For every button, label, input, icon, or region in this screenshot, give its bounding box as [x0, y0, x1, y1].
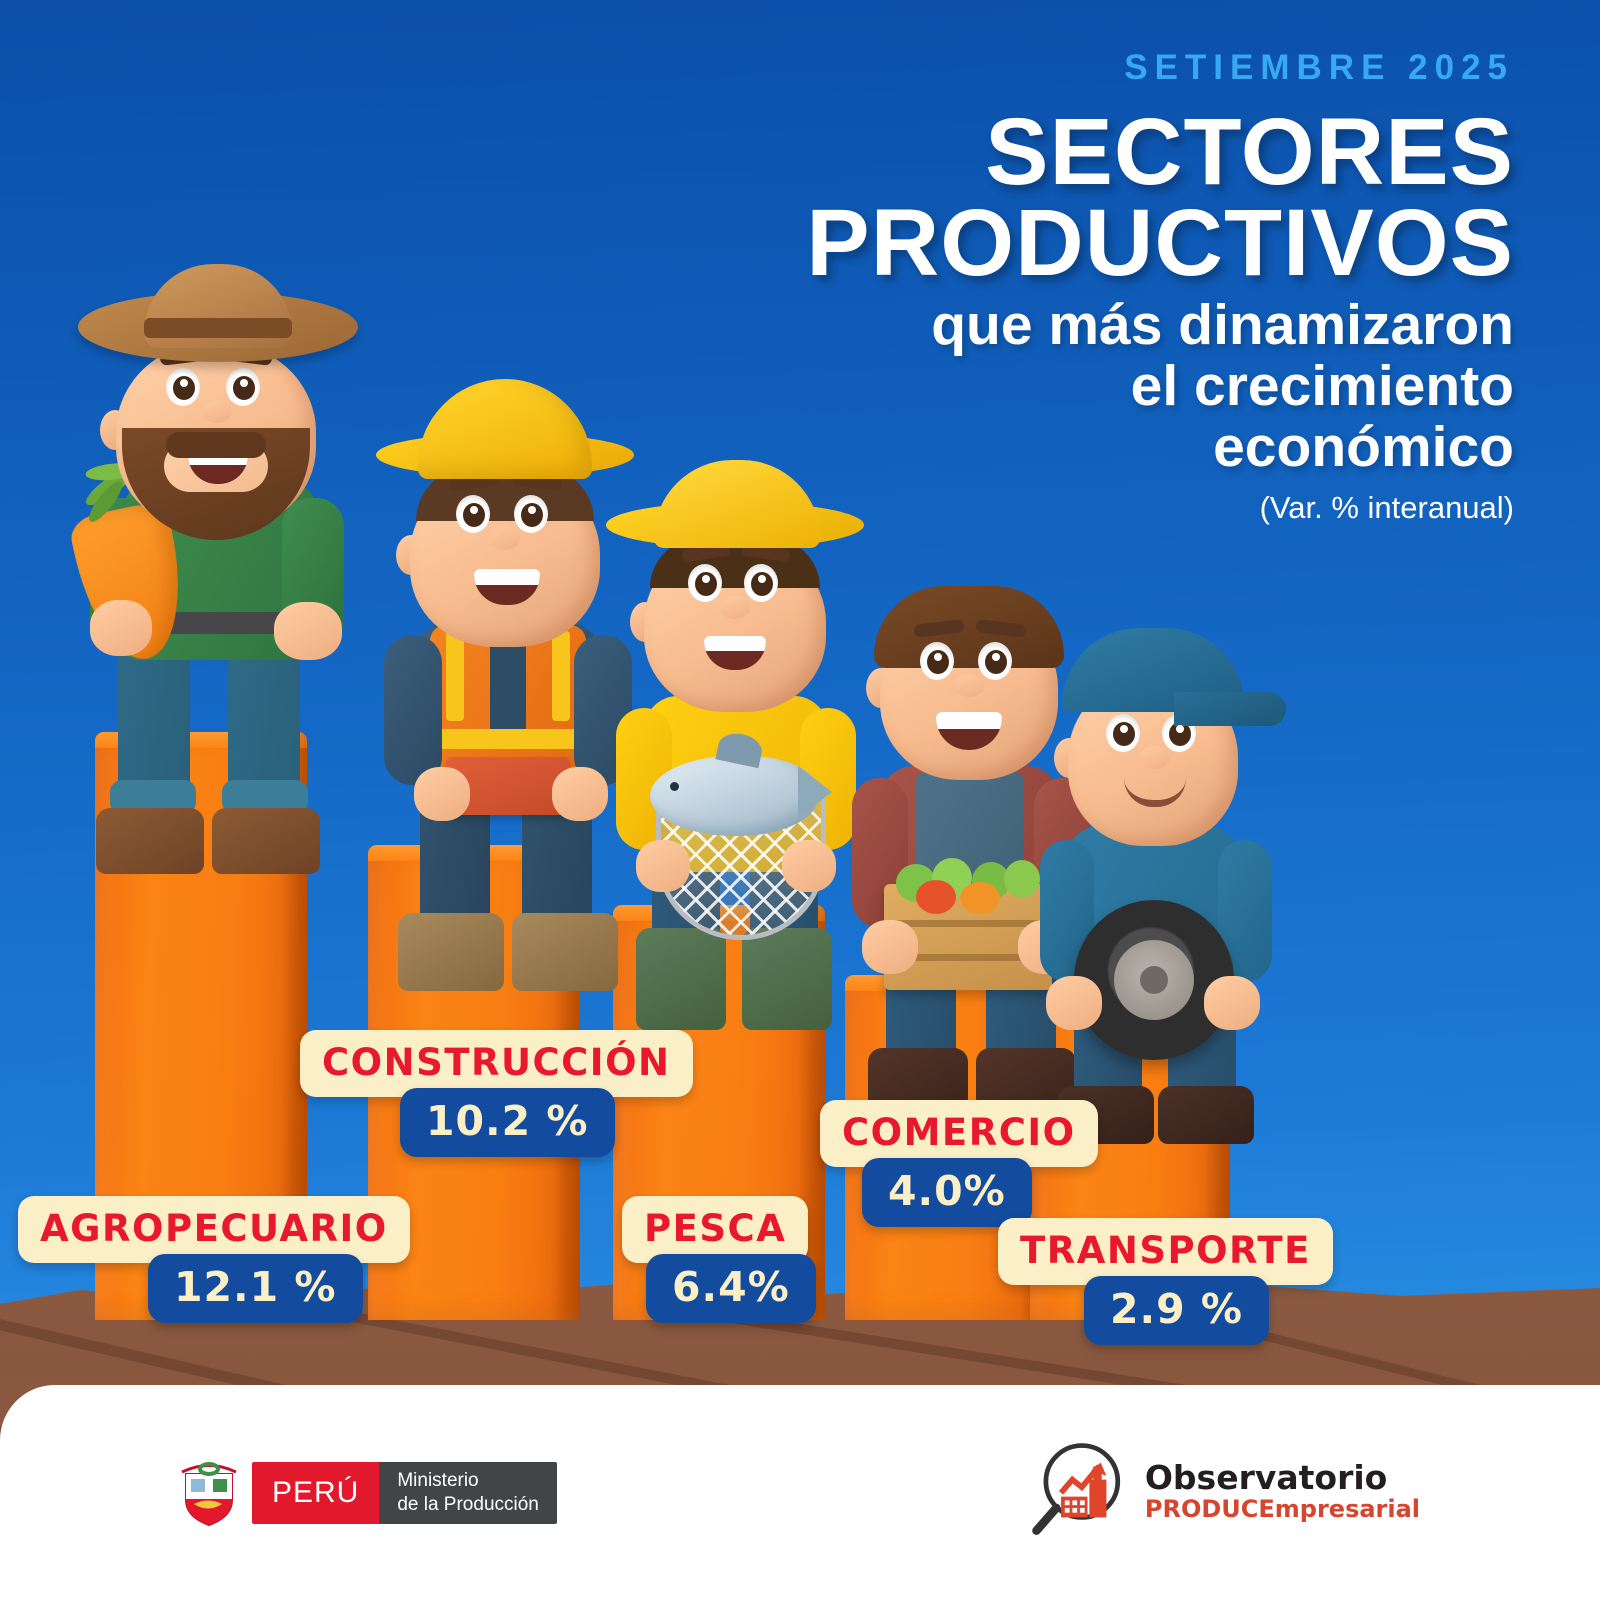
fish-icon [650, 756, 818, 836]
peru-wordmark: PERÚ [252, 1462, 379, 1524]
driver-tire-icon [1032, 600, 1280, 1120]
sector-name-pesca: PESCA [622, 1196, 808, 1263]
boot-right [212, 808, 320, 874]
sector-value-agropecuario: 12.1 % [148, 1254, 363, 1323]
label-construccion[interactable]: CONSTRUCCIÓN 10.2 % [300, 1030, 693, 1157]
peru-coat-of-arms-icon [180, 1460, 238, 1526]
label-transporte[interactable]: TRANSPORTE 2.9 % [998, 1218, 1333, 1345]
observatory-subtitle: PRODUCEmpresarial [1145, 1494, 1420, 1524]
observatory-logo: Observatorio PRODUCEmpresarial [1027, 1438, 1420, 1547]
rubber-boot-right [742, 928, 832, 1030]
ministry-line-1: Ministerio [397, 1469, 539, 1492]
shoe-right [1158, 1086, 1254, 1144]
produce-icon [894, 858, 1042, 902]
rubber-boot-left [636, 928, 726, 1030]
sector-value-transporte: 2.9 % [1084, 1276, 1269, 1345]
boot-left [96, 808, 204, 874]
ministry-name: Ministerio de la Producción [379, 1462, 557, 1524]
sector-value-pesca: 6.4% [646, 1254, 816, 1323]
boot-left [398, 913, 504, 991]
sector-name-transporte: TRANSPORTE [998, 1218, 1333, 1285]
footer-bar: PERÚ Ministerio de la Producción [0, 1385, 1600, 1600]
label-agropecuario[interactable]: AGROPECUARIO 12.1 % [18, 1196, 410, 1323]
label-pesca[interactable]: PESCA 6.4% [622, 1196, 816, 1323]
observatory-title: Observatorio [1145, 1461, 1420, 1494]
farmer-carrot-icon [60, 280, 400, 880]
magnifier-factory-icon [1027, 1438, 1131, 1547]
sector-value-comercio: 4.0% [862, 1158, 1032, 1227]
fisherman-fish-icon [600, 460, 870, 1020]
label-comercio[interactable]: COMERCIO 4.0% [820, 1100, 1098, 1227]
shoe-left [868, 1048, 968, 1108]
ministry-logo: PERÚ Ministerio de la Producción [180, 1460, 557, 1526]
sector-name-comercio: COMERCIO [820, 1100, 1098, 1167]
sector-value-construccion: 10.2 % [400, 1088, 615, 1157]
sector-name-construccion: CONSTRUCCIÓN [300, 1030, 693, 1097]
ministry-line-2: de la Producción [397, 1493, 539, 1516]
sector-name-agropecuario: AGROPECUARIO [18, 1196, 410, 1263]
infographic-poster: SETIEMBRE 2025 SECTORES PRODUCTIVOS que … [0, 0, 1600, 1600]
